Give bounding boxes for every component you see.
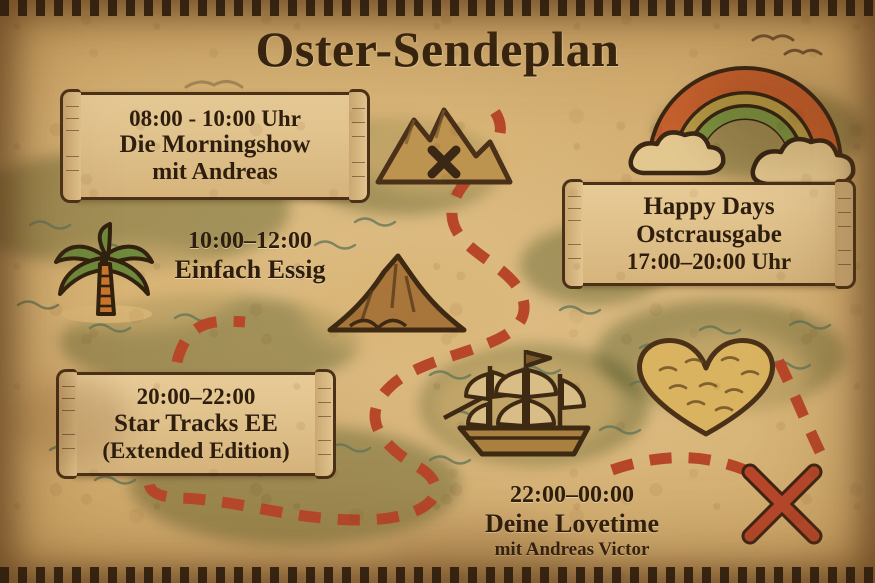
schedule-subtitle: Ostcrausgabe bbox=[578, 221, 840, 249]
schedule-time: 17:00–20:00 Uhr bbox=[578, 249, 840, 275]
torn-edge-top bbox=[0, 0, 875, 16]
schedule-scroll-happy-days: Happy Days Ostcrausgabe 17:00–20:00 Uhr bbox=[578, 182, 840, 286]
schedule-host: mit Andreas bbox=[76, 159, 354, 186]
schedule-label-deine-lovetime: 22:00–00:00 Deine Lovetime mit Andreas V… bbox=[452, 482, 692, 561]
schedule-time: 20:00–22:00 bbox=[72, 384, 320, 410]
schedule-time: 08:00 - 10:00 Uhr bbox=[76, 106, 354, 132]
page-title: Oster-Sendeplan bbox=[0, 20, 875, 78]
torn-edge-bottom bbox=[0, 567, 875, 583]
schedule-show: Deine Lovetime bbox=[452, 509, 692, 539]
sailing-ship-icon bbox=[438, 336, 603, 461]
schedule-time: 10:00–12:00 bbox=[140, 228, 360, 255]
schedule-host: mit Andreas Victor bbox=[452, 539, 692, 561]
schedule-show: Einfach Essig bbox=[140, 255, 360, 285]
schedule-subtitle: (Extended Edition) bbox=[72, 438, 320, 464]
x-marks-the-spot-icon bbox=[736, 458, 828, 550]
schedule-show: Die Morningshow bbox=[76, 131, 354, 159]
mountain-with-pickaxes-icon bbox=[372, 92, 517, 190]
schedule-time: 22:00–00:00 bbox=[452, 482, 692, 509]
heart-island-icon bbox=[630, 330, 790, 445]
treasure-map-poster: Oster-Sendeplan 08:00 - 10:00 Uhr Die Mo… bbox=[0, 0, 875, 583]
schedule-label-einfach-essig: 10:00–12:00 Einfach Essig bbox=[140, 228, 360, 285]
schedule-show: Happy Days bbox=[578, 193, 840, 221]
schedule-show: Star Tracks EE bbox=[72, 410, 320, 438]
schedule-scroll-star-tracks: 20:00–22:00 Star Tracks EE (Extended Edi… bbox=[72, 372, 320, 476]
schedule-scroll-morningshow: 08:00 - 10:00 Uhr Die Morningshow mit An… bbox=[76, 92, 354, 200]
